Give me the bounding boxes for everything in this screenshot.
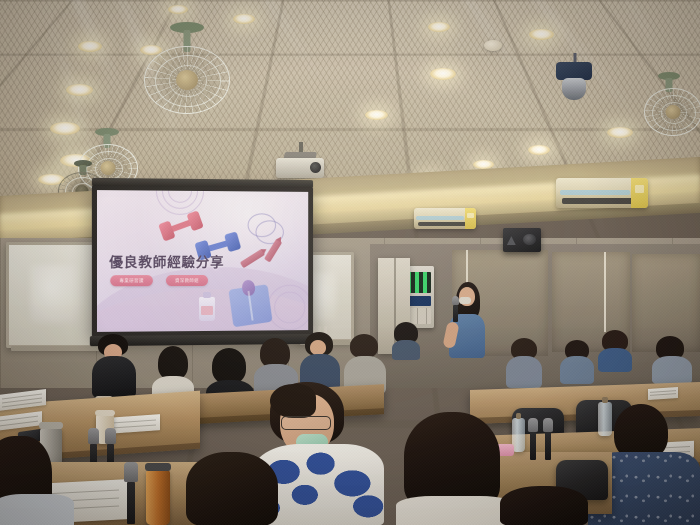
mic-head: [452, 296, 459, 305]
mic-head: [105, 428, 116, 444]
slide-badge: 資深教師組: [166, 275, 208, 286]
ac-side-label: [631, 178, 648, 208]
tumbler-lid: [95, 410, 114, 416]
fan-motor: [666, 105, 681, 119]
hair: [212, 348, 246, 384]
ceiling-downlight: [66, 84, 93, 96]
ceiling-projector: [276, 142, 326, 182]
air-conditioner: [414, 208, 476, 229]
handheld-microphone[interactable]: [124, 462, 138, 524]
mic-head: [124, 462, 138, 482]
slide-arc-decoration: [274, 292, 305, 324]
ac-accent-band: [416, 216, 463, 219]
audience-member: [560, 340, 594, 384]
eyeglasses: [281, 416, 331, 430]
ac-side-label: [465, 208, 476, 229]
ac-vent: [418, 222, 468, 226]
torso: [92, 356, 136, 398]
air-conditioner: [556, 178, 648, 208]
ceiling-downlight: [529, 29, 554, 40]
audience-member: [186, 452, 280, 525]
hair: [404, 412, 500, 508]
ceiling-security-camera: [556, 53, 594, 103]
torso: [598, 348, 632, 372]
audience-member: [396, 412, 516, 525]
torso: [506, 356, 542, 388]
whiteboard-smudge: [310, 272, 337, 321]
mic-head: [88, 428, 99, 444]
ac-vent: [562, 198, 636, 204]
head: [310, 340, 326, 355]
torso: [392, 340, 420, 360]
ac-accent-band: [560, 190, 630, 195]
projector-lens: [310, 162, 321, 173]
handheld-microphone[interactable]: [543, 418, 553, 460]
supplement-bottle-icon: [199, 297, 215, 321]
flask-lid: [39, 422, 63, 429]
bottle-cap: [602, 397, 608, 403]
torso: [652, 356, 692, 384]
fan-cage: [144, 46, 230, 114]
mic-body: [453, 305, 457, 322]
bottle-cap: [516, 413, 522, 419]
mic-body: [127, 482, 136, 524]
whiteboard-smudge: [30, 265, 80, 323]
face-mask: [459, 297, 471, 304]
pencil-icon: [240, 249, 265, 269]
bottle-cap: [203, 292, 211, 298]
speaker-cone: [523, 234, 536, 245]
projected-slide: 優良教師經驗分享 專業研習課 資深教師組: [97, 190, 308, 332]
bottle-label: [201, 306, 214, 316]
blind-pull-cord[interactable]: [604, 252, 606, 332]
slide-title: 優良教師經驗分享: [109, 251, 224, 271]
ceiling-downlight: [430, 68, 456, 80]
slide-badge: 專業研習課: [110, 275, 153, 286]
caged-ceiling-fan: [140, 20, 230, 120]
hair: [158, 346, 188, 380]
mic-head: [543, 418, 553, 432]
handout-line: [0, 421, 38, 427]
handheld-microphone[interactable]: [528, 418, 538, 460]
caged-ceiling-fan: [642, 72, 700, 144]
audience-member: [0, 494, 74, 525]
hair: [186, 452, 278, 525]
mic-body: [545, 432, 551, 460]
torso: [396, 496, 516, 525]
hair: [500, 486, 588, 525]
wall-speaker: [503, 228, 541, 252]
handout-line: [650, 393, 675, 396]
audience-member: [506, 338, 542, 388]
ceiling-downlight: [78, 41, 102, 52]
screen-top-casing: [92, 178, 313, 188]
audience-member: [598, 330, 632, 370]
projection-screen: 優良教師經驗分享 專業研習課 資深教師組: [92, 185, 313, 337]
hair-front-sweep: [270, 384, 316, 418]
handheld-microphone[interactable]: [452, 296, 459, 322]
camera-dome: [562, 78, 586, 100]
mic-body: [530, 432, 536, 460]
speaker-logo-icon: [507, 236, 516, 245]
audience-member: [392, 322, 420, 358]
ceiling-downlight: [168, 5, 188, 14]
ceiling-downlight: [428, 22, 450, 32]
pink-dumbbell-icon: [157, 208, 204, 243]
ceiling-downlight: [233, 14, 255, 24]
handout-line: [112, 419, 156, 423]
conference-room-photo: 優良教師經驗分享 專業研習課 資深教師組: [0, 0, 700, 525]
dumbbell-end: [158, 220, 176, 241]
torso: [0, 494, 74, 525]
smoke-detector: [484, 40, 502, 51]
dumbbell-end: [186, 210, 203, 231]
whiteboard-marker-tray: [11, 346, 103, 351]
fan-motor: [176, 70, 198, 90]
hair: [350, 334, 378, 358]
weighing-scale-icon: [228, 284, 272, 327]
insulated-flask[interactable]: [146, 470, 170, 525]
ceiling-downlight: [607, 127, 633, 138]
fan-cage: [644, 88, 700, 136]
audience-member: [92, 334, 136, 398]
flask-lid: [145, 463, 171, 471]
torso: [560, 356, 594, 384]
ceiling-downlight: [365, 110, 388, 120]
audience-member: [500, 486, 590, 525]
mic-head: [528, 418, 538, 432]
dumbbell-end: [224, 231, 241, 252]
ceiling-downlight: [528, 145, 550, 155]
handout-line: [112, 424, 156, 428]
printed-handout: [648, 387, 678, 400]
audience-member: [652, 336, 692, 384]
